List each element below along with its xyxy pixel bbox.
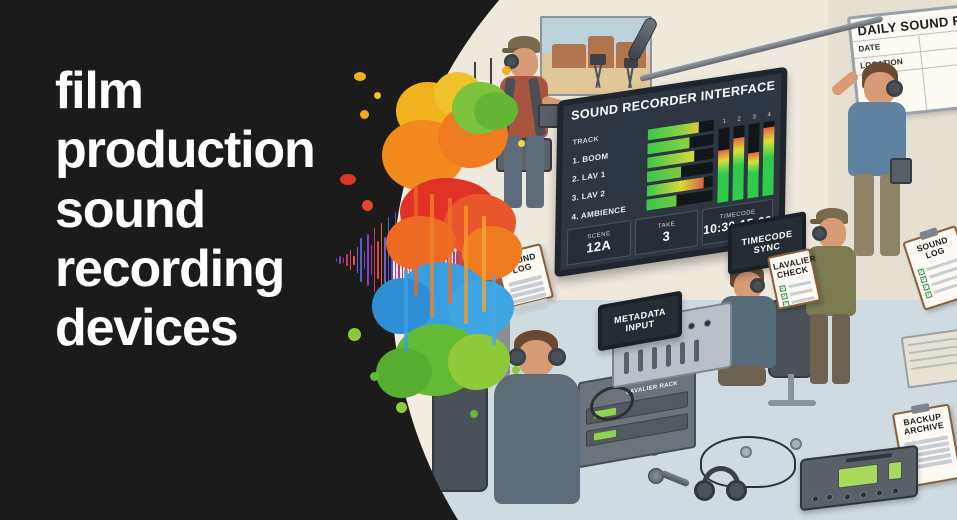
vu-meter: 2 (732, 125, 744, 201)
handheld-microphone (648, 468, 664, 484)
document-file-stack (901, 327, 957, 388)
title-line-2: production (55, 121, 385, 180)
title-line-1: film (55, 62, 385, 121)
track-row: 3. LAV 2 (572, 184, 642, 204)
person-boom-operator (842, 62, 918, 262)
screenshot-canvas: SOUND RECORDER INTERFACE TRACK 1. BOOM 2… (0, 0, 957, 520)
belt-transmitter (890, 158, 912, 184)
track-row: 1. BOOM (572, 146, 642, 166)
chair-caster (790, 438, 802, 450)
vu-meter-group: 1 2 3 4 (717, 104, 775, 205)
vu-meter: 1 (717, 127, 729, 203)
scene-cell: SCENE 12A (567, 220, 631, 266)
check-icon: ✓ (920, 276, 928, 284)
check-icon: ✓ (782, 300, 789, 307)
headphones-icon (694, 466, 748, 500)
title-line-3: sound (55, 181, 385, 240)
track-row: 2. LAV 1 (572, 165, 642, 185)
vu-meter-label: 1 (719, 118, 730, 126)
check-icon: ✓ (922, 283, 930, 291)
vu-meter-label: 3 (749, 114, 760, 122)
take-value: 3 (662, 228, 670, 244)
vu-meter: 3 (747, 123, 759, 199)
take-label: TAKE (658, 221, 675, 230)
title-line-5: devices (55, 299, 385, 358)
vu-meter-label: 4 (764, 111, 775, 119)
vu-meter-label: 2 (734, 116, 745, 124)
page-title: film production sound recording devices (55, 62, 385, 358)
check-icon: ✓ (917, 268, 925, 276)
track-level-lanes (646, 114, 714, 216)
check-icon: ✓ (925, 291, 933, 299)
take-cell: TAKE 3 (634, 210, 698, 256)
track-list: TRACK 1. BOOM 2. LAV 1 3. LAV 2 4. AMBIE… (567, 124, 643, 227)
check-icon: ✓ (781, 293, 788, 300)
track-header: TRACK (573, 129, 643, 147)
vu-meter: 4 (762, 120, 774, 196)
check-icon: ✓ (779, 285, 786, 292)
title-line-4: recording (55, 240, 385, 299)
